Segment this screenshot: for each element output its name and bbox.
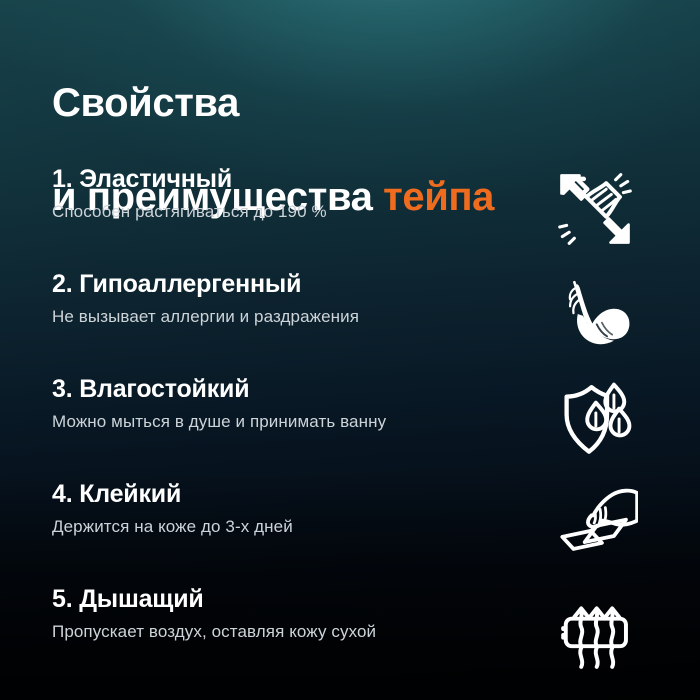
feature-title: 3. Влагостойкий [52,374,522,404]
feature-item-hypoallergenic: 2. Гипоаллергенный Не вызывает аллергии … [0,269,700,374]
feature-subtitle: Можно мыться в душе и принимать ванну [52,411,522,433]
feature-list: 1. Эластичный Способен растягиваться до … [0,164,700,689]
breathable-airflow-icon [552,586,638,672]
feature-text-block: 4. Клейкий Держится на коже до 3-х дней [52,479,522,538]
feature-title: 5. Дышащий [52,584,522,614]
feature-title: 1. Эластичный [52,164,522,194]
hand-tape-strip-icon [552,481,638,567]
feature-item-breathable: 5. Дышащий Пропускает воздух, оставляя к… [0,584,700,689]
shield-water-drops-icon [552,376,638,462]
stretch-arrows-icon [552,166,638,252]
feature-text-block: 3. Влагостойкий Можно мыться в душе и пр… [52,374,522,433]
feature-item-elastic: 1. Эластичный Способен растягиваться до … [0,164,700,269]
feather-icon [552,271,638,357]
feature-subtitle: Пропускает воздух, оставляя кожу сухой [52,621,522,643]
feature-subtitle: Держится на коже до 3-х дней [52,516,522,538]
title-line-1: Свойства [52,80,652,127]
feature-title: 2. Гипоаллергенный [52,269,522,299]
promo-poster: Свойства и преимущества тейпа 1. Эластич… [0,0,700,700]
feature-text-block: 5. Дышащий Пропускает воздух, оставляя к… [52,584,522,643]
feature-subtitle: Способен растягиваться до 190 % [52,201,522,223]
feature-item-adhesive: 4. Клейкий Держится на коже до 3-х дней [0,479,700,584]
feature-item-waterproof: 3. Влагостойкий Можно мыться в душе и пр… [0,374,700,479]
feature-subtitle: Не вызывает аллергии и раздражения [52,306,522,328]
feature-text-block: 1. Эластичный Способен растягиваться до … [52,164,522,223]
feature-text-block: 2. Гипоаллергенный Не вызывает аллергии … [52,269,522,328]
feature-title: 4. Клейкий [52,479,522,509]
